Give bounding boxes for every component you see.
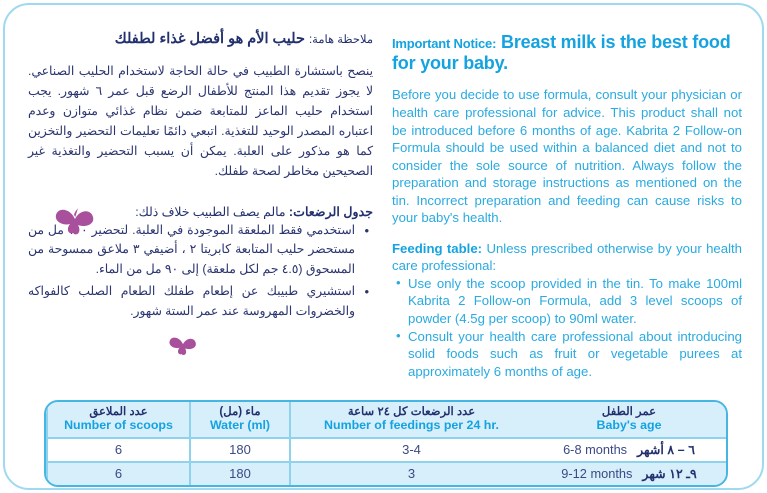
cell-age-ar: ٩ـ ١٢ شهر xyxy=(642,466,696,481)
feeding-instructions-page: ملاحظة هامة: حليب الأم هو أفضل غذاء لطفل… xyxy=(0,0,767,493)
arabic-title-lead: ملاحظة هامة: xyxy=(309,34,373,46)
column-header-water-ar: ماء (مل) xyxy=(193,405,287,418)
arabic-bullet-2: استشيري طبيبك عن إطعام طفلك الطعام الصلب… xyxy=(28,282,355,322)
table-row: 6 180 3-4 ٦ – ٨ أشهر 6-8 months xyxy=(46,437,726,461)
column-header-water: ماء (مل) Water (ml) xyxy=(189,402,289,437)
table-row: 6 180 3 ٩ـ ١٢ شهر 9-12 months xyxy=(46,461,726,485)
cell-scoops: 6 xyxy=(46,461,189,485)
arabic-bullet-1: استخدمي فقط الملعقة الموجودة في العلبة. … xyxy=(28,221,355,281)
cell-water: 180 xyxy=(189,437,289,461)
cell-age: ٩ـ ١٢ شهر 9-12 months xyxy=(532,461,726,485)
cell-age: ٦ – ٨ أشهر 6-8 months xyxy=(532,437,726,461)
cell-scoops: 6 xyxy=(46,437,189,461)
column-header-scoops-ar: عدد الملاعق xyxy=(50,405,187,418)
feeding-table: عدد الملاعق Number of scoops ماء (مل) Wa… xyxy=(44,400,728,487)
cell-age-en: 9-12 months xyxy=(561,466,632,481)
arabic-feeding-subtext: مالم يصف الطبيب خلاف ذلك: xyxy=(135,205,285,219)
arabic-title-main: حليب الأم هو أفضل غذاء لطفلك xyxy=(115,31,305,47)
column-header-feedings-en: Number of feedings per 24 hr. xyxy=(293,418,530,432)
column-header-feedings-ar: عدد الرضعات كل ٢٤ ساعة xyxy=(293,405,530,418)
english-bullet-list: Use only the scoop provided in the tin. … xyxy=(392,275,742,380)
cell-feedings: 3 xyxy=(289,461,532,485)
cell-feedings: 3-4 xyxy=(289,437,532,461)
feeding-table-body: 6 180 3-4 ٦ – ٨ أشهر 6-8 months 6 180 3 … xyxy=(46,437,726,485)
arabic-feeding-label: جدول الرضعات: xyxy=(289,205,373,219)
cell-age-ar: ٦ – ٨ أشهر xyxy=(637,442,695,457)
column-header-age-en: Baby's age xyxy=(534,418,724,432)
butterfly-icon-lower xyxy=(168,335,198,359)
cell-water: 180 xyxy=(189,461,289,485)
feeding-table-header: عدد الملاعق Number of scoops ماء (مل) Wa… xyxy=(46,402,726,437)
column-header-water-en: Water (ml) xyxy=(193,418,287,432)
table-header-row: عدد الملاعق Number of scoops ماء (مل) Wa… xyxy=(46,402,726,437)
english-bullet-2: Consult your health care professional ab… xyxy=(408,328,742,381)
column-header-scoops-en: Number of scoops xyxy=(50,418,187,432)
column-header-age: عمر الطفل Baby's age xyxy=(532,402,726,437)
english-heading-lead: Important Notice: xyxy=(392,36,496,51)
english-heading: Important Notice: Breast milk is the bes… xyxy=(392,32,742,74)
column-header-feedings: عدد الرضعات كل ٢٤ ساعة Number of feeding… xyxy=(289,402,532,437)
english-body-paragraph: Before you decide to use formula, consul… xyxy=(392,86,742,226)
cell-age-en: 6-8 months xyxy=(563,442,627,457)
column-header-age-ar: عمر الطفل xyxy=(534,405,724,418)
arabic-body-paragraph: ينصح باستشارة الطبيب في حالة الحاجة لاست… xyxy=(28,62,373,181)
column-header-scoops: عدد الملاعق Number of scoops xyxy=(46,402,189,437)
english-column: Important Notice: Breast milk is the bes… xyxy=(392,32,742,380)
english-feeding-table-heading: Feeding table: Unless prescribed otherwi… xyxy=(392,240,742,275)
english-feeding-label: Feeding table: xyxy=(392,241,482,256)
arabic-title: ملاحظة هامة: حليب الأم هو أفضل غذاء لطفل… xyxy=(28,30,373,48)
arabic-bullet-list: استخدمي فقط الملعقة الموجودة في العلبة. … xyxy=(28,221,373,323)
arabic-column: ملاحظة هامة: حليب الأم هو أفضل غذاء لطفل… xyxy=(28,30,373,322)
arabic-feeding-table-heading: جدول الرضعات: مالم يصف الطبيب خلاف ذلك: xyxy=(28,204,373,219)
english-bullet-1: Use only the scoop provided in the tin. … xyxy=(408,275,742,328)
